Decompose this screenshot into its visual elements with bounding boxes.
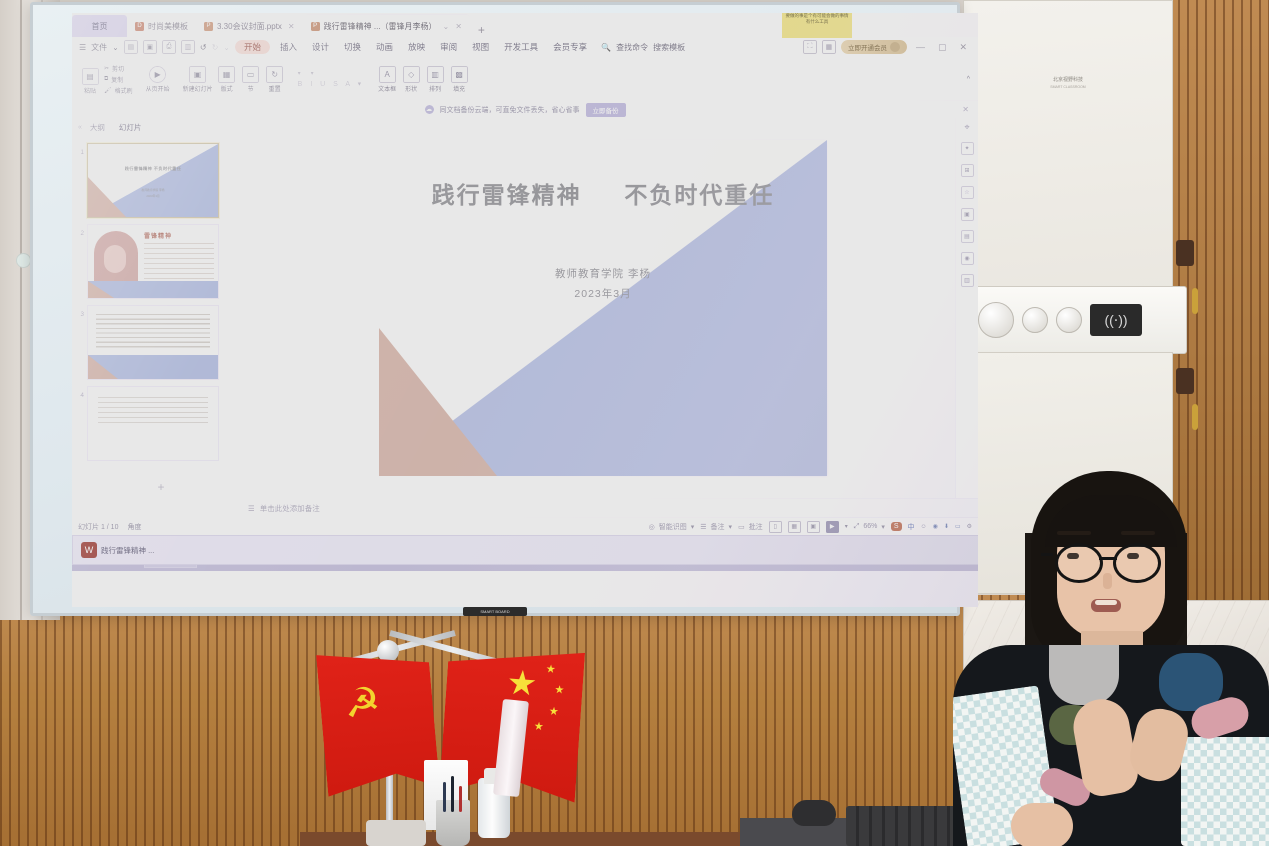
mouse[interactable] [792, 800, 836, 826]
nose [1103, 573, 1112, 589]
close-icon[interactable]: ✕ [288, 22, 295, 31]
banner-text: 同文档备份云端，可直免文件丢失，省心省事 [440, 105, 580, 115]
glasses-temple [1041, 553, 1053, 556]
coat-pattern-right [1181, 737, 1269, 846]
hammer-sickle-emblem: ☭ [343, 681, 397, 735]
notes-toggle-button[interactable]: ☰ 备注▾ [700, 522, 732, 532]
right-tool-rail: ⌖ ✦ ⊞ ☆ ▣ ▤ ◉ ▥ [955, 118, 978, 498]
thumbnail-number: 2 [76, 224, 84, 237]
status-bar: 幻灯片 1 / 10 角度 ◎ 智能识图▾ ☰ 备注▾ ▭ [72, 517, 978, 535]
slide-sorter-icon[interactable]: ▦ [788, 521, 801, 533]
door-hinge [1176, 368, 1194, 394]
qat-more-icon[interactable]: ⌄ [223, 43, 230, 52]
play-button[interactable]: ▶ [826, 521, 839, 533]
document-tab-label: 时尚美模板 [148, 21, 188, 32]
tab-member[interactable]: 会员专享 [548, 40, 592, 54]
arrange-icon: ▥ [427, 66, 444, 83]
smart-classroom-controller: 北京视野科技 SMART CLASSROOM [963, 0, 1173, 302]
presenter [945, 455, 1269, 846]
tab-design[interactable]: 设计 [307, 40, 334, 54]
tab-outline[interactable]: 大纲 [90, 122, 105, 133]
search-icon[interactable]: 🔍 [601, 43, 611, 52]
ribbon-group-slides: ▣ 新建幻灯片 ▦ 版式 ▭ 节 ↻ 重置 [183, 66, 291, 93]
comment-label: 批注 [749, 522, 763, 532]
chart-icon[interactable]: ⊞ [961, 164, 974, 177]
close-button[interactable]: ✕ [955, 42, 971, 53]
new-slide-icon: ▣ [189, 66, 206, 83]
ribbon-toolbar: ▤ 粘贴 ✂ 剪切 ⧉ 复制 🖌 格式刷 ▶ 从页开始 [72, 58, 978, 101]
thumbnail-title: 践行雷锋精神 不负时代重任 [88, 166, 218, 172]
ribbon-divider [142, 66, 143, 92]
thumbnail-row[interactable]: 3 [72, 302, 250, 383]
grid-icon[interactable]: ▦ [822, 40, 836, 54]
thumbnail-slide-4[interactable] [87, 386, 219, 461]
wps-office-window: 首页 D 时尚美模板 P 3.30会议封面.pptx ✕ P 践行雷锋精神 ..… [72, 13, 978, 571]
reading-view-icon[interactable]: ▣ [807, 521, 820, 533]
slide-title[interactable]: 践行雷锋精神 不负时代重任 [379, 176, 827, 210]
eyebrow-left [1057, 531, 1091, 535]
comment-icon: ▭ [738, 523, 745, 531]
comment-button[interactable]: ▭ 批注 [738, 522, 763, 532]
file-menu[interactable]: 文件 [91, 42, 107, 53]
door-handle[interactable] [1192, 404, 1198, 430]
ribbon-group-slideshow: ▶ 从页开始 [146, 66, 176, 93]
slide-subtitle-author[interactable]: 教师教育学院 李杨 [379, 266, 827, 281]
round-glasses [1049, 543, 1173, 577]
tab-start[interactable]: 开始 [235, 40, 270, 54]
shape-icon: ◇ [403, 66, 420, 83]
fill-icon: ▩ [451, 66, 468, 83]
shape-button[interactable]: ◇ 形状 [401, 66, 421, 93]
big-star-icon: ★ [506, 666, 539, 702]
flag-joint [377, 640, 399, 662]
membership-button[interactable]: 立即开通会员 [841, 40, 907, 54]
slide-title-right: 不负时代重任 [624, 182, 774, 208]
windows-taskbar: e ▤ ◍ 微信 W 践行雷锋精神 ... ◖ ☁ [72, 535, 978, 571]
normal-view-icon[interactable]: ▯ [769, 521, 782, 533]
sogou-icon[interactable]: S [891, 522, 902, 531]
pen [443, 782, 446, 812]
copy-button[interactable]: ⧉ 复制 [104, 75, 133, 84]
font-name-selector[interactable]: ▾ ▾ [298, 70, 364, 77]
channel-knob[interactable] [1056, 307, 1082, 333]
copy-label: 复制 [111, 75, 123, 84]
pptx-icon: P [204, 22, 213, 31]
shape-label: 形状 [405, 84, 417, 93]
layout-label: 版式 [221, 84, 233, 93]
current-slide[interactable]: 践行雷锋精神 不负时代重任 教师教育学院 李杨 2023年3月 [379, 140, 827, 476]
thumbnail-heading: 雷锋精神 [144, 231, 172, 240]
coat-pattern-accent [1049, 645, 1119, 705]
thumbnail-row[interactable]: 4 [72, 383, 250, 464]
tab-insert[interactable]: 插入 [275, 40, 302, 54]
fit-slide-icon: ⤢ [854, 523, 860, 531]
tab-developer[interactable]: 开发工具 [499, 40, 543, 54]
new-tab-button[interactable]: + [470, 23, 493, 37]
glasses-bridge [1099, 557, 1117, 560]
pane-tab-strip: « 大纲 幻灯片 [72, 118, 250, 136]
status-right-group: ◎ 智能识图▾ ☰ 备注▾ ▭ 批注 ▯ ▦ ▣ [649, 521, 972, 533]
cloud-icon: ☁ [425, 105, 434, 114]
projected-display: 首页 D 时尚美模板 P 3.30会议封面.pptx ✕ P 践行雷锋精神 ..… [72, 13, 978, 607]
close-icon[interactable]: ✕ [455, 22, 462, 31]
arrange-button[interactable]: ▥ 排列 [425, 66, 445, 93]
projector-screen-frame: 首页 D 时尚美模板 P 3.30会议封面.pptx ✕ P 践行雷锋精神 ..… [30, 2, 960, 616]
cut-label: 剪切 [112, 64, 124, 73]
tab-review[interactable]: 审阅 [435, 40, 462, 54]
redo-icon[interactable]: ↻ [212, 43, 219, 52]
reset-label: 重置 [269, 84, 281, 93]
restore-button[interactable]: ▢ [934, 42, 951, 53]
small-star-icon: ★ [533, 722, 544, 734]
slide-counter: 幻灯片 1 / 10 [78, 522, 118, 532]
add-slide-button[interactable]: + [72, 480, 250, 494]
taskbar-wps[interactable]: W 践行雷锋精神 ... [72, 535, 978, 565]
notes-toggle-icon: ☰ [700, 523, 706, 531]
minimize-button[interactable]: — [912, 42, 929, 52]
tab-animation[interactable]: 动画 [371, 40, 398, 54]
backup-now-button[interactable]: 立即备份 [586, 103, 626, 117]
party-flag: ☭ [316, 645, 440, 796]
device-brand: 北京视野科技 [964, 76, 1172, 83]
star-icon[interactable]: ☆ [961, 186, 974, 199]
save-cloud-icon[interactable]: ▣ [143, 40, 157, 54]
eyebrow-right [1121, 531, 1155, 535]
hand-lower [1011, 803, 1073, 846]
door-handle[interactable] [1192, 288, 1198, 314]
slide-canvas-area[interactable]: 践行雷锋精神 不负时代重任 教师教育学院 李杨 2023年3月 [251, 118, 955, 498]
wps-icon: W [81, 542, 97, 558]
classroom-scene: 北京视野科技 SMART CLASSROOM ((⋅)) 首页 D 时尚美模板 [0, 0, 1269, 846]
teeth [1095, 600, 1117, 605]
collapse-ribbon-icon[interactable]: ^ [967, 76, 970, 83]
screen-brand-plate: SMART BOARD [463, 607, 527, 616]
ai-assistant-icon[interactable]: ✦ [961, 142, 974, 155]
document-tab-label: 3.30会议封面.pptx [217, 21, 282, 32]
close-icon[interactable]: ✕ [962, 105, 969, 114]
undo-icon[interactable]: ↺ [200, 43, 207, 52]
search-command-label[interactable]: 查找命令 [616, 42, 648, 53]
ribbon-divider [294, 66, 295, 92]
thumbnail-subtitle: 教师教育学院 李杨 [88, 188, 218, 192]
pin-icon[interactable]: ⌄ [443, 22, 450, 31]
slide-shape-pink [379, 328, 497, 476]
reset-button[interactable]: ↻ 重置 [265, 66, 285, 93]
cut-button[interactable]: ✂ 剪切 [104, 64, 133, 73]
ai-label: 智能识图 [659, 522, 687, 532]
document-tab-strip: 首页 D 时尚美模板 P 3.30会议封面.pptx ✕ P 践行雷锋精神 ..… [72, 13, 978, 37]
cursor-icon[interactable]: ⌖ [962, 122, 973, 133]
avatar[interactable] [890, 42, 900, 52]
new-slide-label: 新建幻灯片 [183, 84, 213, 93]
paste-button[interactable]: ▤ 粘贴 [80, 68, 100, 95]
print-preview-icon[interactable]: ▥ [181, 40, 195, 54]
notes-bar[interactable]: ☰ 单击此处添加备注 [72, 498, 978, 517]
ribbon-divider [179, 66, 180, 92]
document-tab-label: 践行雷锋精神 ...（雷锋月李杨） [324, 21, 437, 32]
thumbnail-list[interactable]: 1 践行雷锋精神 不负时代重任 教师教育学院 李杨 2023年3月 [72, 138, 250, 472]
home-tab[interactable]: 首页 [72, 15, 127, 37]
controller-button-panel[interactable]: ((⋅)) [963, 286, 1187, 354]
theme-label[interactable]: 角度 [127, 522, 141, 532]
note-label: 备注 [711, 522, 725, 532]
editor-body: « 大纲 幻灯片 1 践行雷锋精神 不负时代 [72, 118, 978, 498]
tab-slides[interactable]: 幻灯片 [113, 121, 148, 134]
fullscreen-icon[interactable]: ⛶ [803, 40, 817, 54]
fit-slide-button[interactable]: ⤢ 66%▾ [854, 523, 885, 531]
thumbnail-row[interactable]: 1 践行雷锋精神 不负时代重任 教师教育学院 李杨 2023年3月 [72, 140, 250, 221]
font-style-buttons[interactable]: B I U S A ▾ [298, 80, 364, 88]
chinese-mode-icon[interactable]: 中 [908, 522, 915, 532]
layout-button[interactable]: ▦ 版式 [217, 66, 237, 93]
start-slideshow-button[interactable]: ▶ 从页开始 [146, 66, 170, 93]
ai-icon: ◎ [649, 523, 655, 531]
thumbnail-number: 4 [76, 386, 84, 399]
volume-knob[interactable] [1022, 307, 1048, 333]
slide-navigator-pane: « 大纲 幻灯片 1 践行雷锋精神 不负时代 [72, 118, 251, 498]
patterned-coat [953, 645, 1269, 846]
image-icon[interactable]: ▣ [961, 208, 974, 221]
textbox-icon: A [379, 66, 396, 83]
slide-subtitle-date[interactable]: 2023年3月 [379, 286, 827, 301]
desk-tray [366, 820, 426, 846]
tab-slideshow[interactable]: 放映 [403, 40, 430, 54]
play-circle-icon: ▶ [149, 66, 166, 83]
wall-seam [20, 0, 22, 620]
sticky-note: 要做的事是个有可能会做的事情有什么工具 [782, 13, 852, 38]
media-icon[interactable]: ▤ [961, 230, 974, 243]
cloud-backup-banner: ☁ 同文档备份云端，可直免文件丢失，省心省事 立即备份 ✕ [72, 101, 978, 118]
ribbon-group-font: ▾ ▾ B I U S A ▾ [298, 70, 370, 88]
search-template-label[interactable]: 搜索模板 [653, 42, 685, 53]
globe-icon[interactable]: ◉ [961, 252, 974, 265]
membership-label: 立即开通会员 [848, 42, 887, 52]
tab-transition[interactable]: 切换 [339, 40, 366, 54]
door-hinge [1176, 240, 1194, 266]
notes-placeholder: 单击此处添加备注 [260, 503, 320, 514]
format-painter-label: 格式刷 [115, 86, 133, 95]
ai-recognize-button[interactable]: ◎ 智能识图▾ [649, 522, 695, 532]
start-slideshow-label: 从页开始 [146, 84, 170, 93]
lens-right [1113, 543, 1161, 583]
pen [459, 786, 462, 812]
globe-icon[interactable]: ◉ [933, 523, 938, 530]
small-star-icon: ★ [554, 685, 565, 697]
document-tab[interactable]: P 3.30会议封面.pptx ✕ [196, 15, 303, 37]
slide-title-left: 践行雷锋精神 [432, 182, 582, 208]
lens-left [1055, 543, 1103, 583]
chevron-down-icon[interactable]: ⌄ [112, 43, 119, 52]
document-tab-active[interactable]: P 践行雷锋精神 ...（雷锋月李杨） ⌄ ✕ [303, 15, 470, 37]
paste-icon: ▤ [82, 68, 99, 85]
taskbar-wps-label: 践行雷锋精神 ... [101, 545, 154, 556]
layout-icon: ▦ [218, 66, 235, 83]
emoji-icon[interactable]: ☺ [921, 524, 927, 530]
thumbnail-date: 2023年3月 [88, 194, 218, 198]
menu-bar: ☰ 文件 ⌄ ▤ ▣ ⎙ ▥ ↺ ↻ ⌄ 开始 插入 设计 切换 动画 放映 审 [72, 37, 978, 58]
section-label: 节 [248, 84, 254, 93]
thumbnail-slide-1[interactable]: 践行雷锋精神 不负时代重任 教师教育学院 李杨 2023年3月 [87, 143, 219, 218]
thumbnail-slide-3[interactable] [87, 305, 219, 380]
section-icon: ▭ [242, 66, 259, 83]
format-painter-button[interactable]: 🖌 格式刷 [104, 86, 133, 95]
document-tab[interactable]: D 时尚美模板 [127, 15, 196, 37]
new-slide-button[interactable]: ▣ 新建幻灯片 [183, 66, 213, 93]
small-star-icon: ★ [545, 664, 556, 676]
hamburger-icon[interactable]: ☰ [79, 43, 86, 52]
notes-icon: ☰ [248, 504, 255, 513]
fill-button[interactable]: ▩ 填充 [449, 66, 469, 93]
save-icon[interactable]: ▤ [124, 40, 138, 54]
paste-label: 粘贴 [84, 86, 96, 95]
thumbnail-slide-2[interactable]: 雷锋精神 [87, 224, 219, 299]
thumbnail-number: 1 [76, 143, 84, 156]
section-button[interactable]: ▭ 节 [241, 66, 261, 93]
pen [451, 776, 454, 812]
thumbnail-row[interactable]: 2 雷锋精神 [72, 221, 250, 302]
tab-view[interactable]: 视图 [467, 40, 494, 54]
chevron-left-icon[interactable]: « [78, 124, 82, 131]
layout-panel-icon[interactable]: ▥ [961, 274, 974, 287]
contactless-icon[interactable]: ((⋅)) [1090, 304, 1142, 336]
zoom-level[interactable]: 66% [863, 523, 877, 530]
ribbon-group-drawing: A 文本框 ◇ 形状 ▥ 排列 ▩ 填充 [377, 66, 475, 93]
arrange-label: 排列 [429, 84, 441, 93]
ribbon-divider [373, 66, 374, 92]
device-brand-sub: SMART CLASSROOM [964, 85, 1172, 89]
power-knob[interactable] [978, 302, 1014, 338]
wall-sensor-icon [16, 253, 31, 268]
ribbon-group-clipboard: ▤ 粘贴 ✂ 剪切 ⧉ 复制 🖌 格式刷 [80, 64, 139, 95]
thumbnail-number: 3 [76, 305, 84, 318]
small-star-icon: ★ [548, 707, 559, 719]
template-icon: D [135, 22, 144, 31]
textbox-button[interactable]: A 文本框 [377, 66, 397, 93]
textbox-label: 文本框 [378, 84, 396, 93]
pptx-icon: P [311, 22, 320, 31]
fill-label: 填充 [453, 84, 465, 93]
reset-icon: ↻ [266, 66, 283, 83]
print-icon[interactable]: ⎙ [162, 40, 176, 54]
